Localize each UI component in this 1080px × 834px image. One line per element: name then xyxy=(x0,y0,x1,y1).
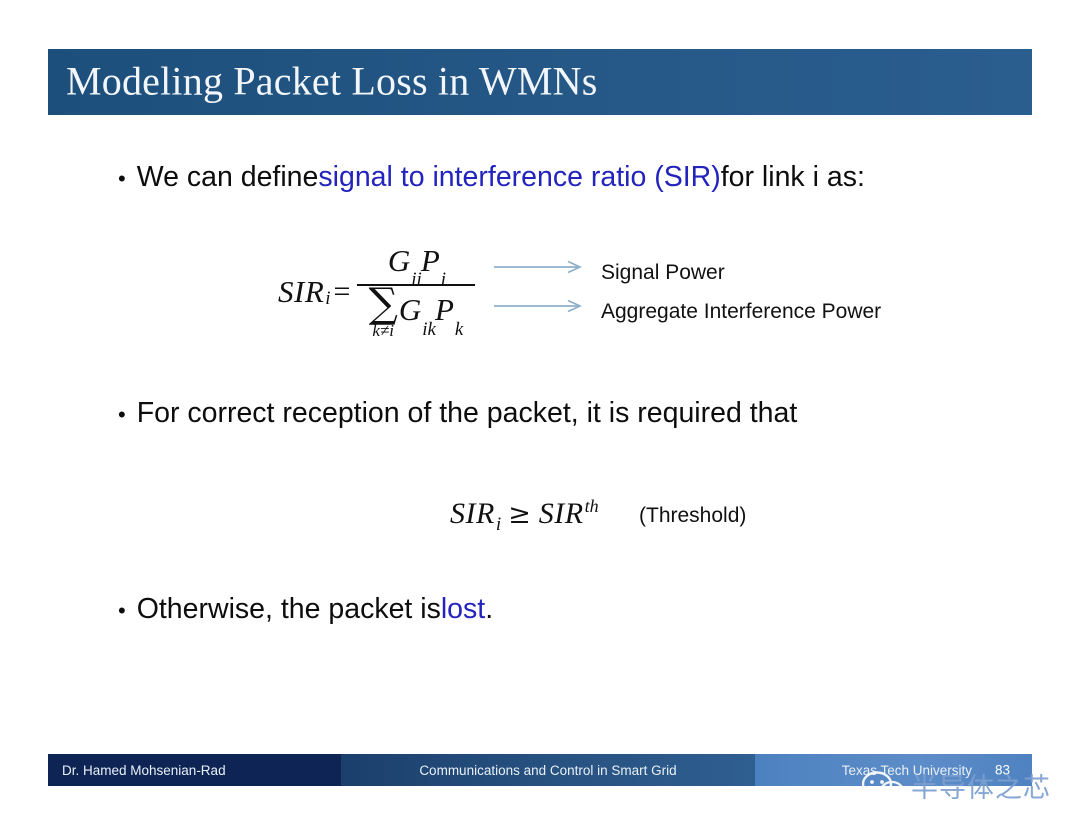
bullet-1-text-part-1: We can define xyxy=(137,161,319,194)
page-title: Modeling Packet Loss in WMNs xyxy=(66,58,598,105)
summation-lower-limit: k≠i xyxy=(372,322,394,339)
footer-author: Dr. Hamed Mohsenian-Rad xyxy=(48,754,341,786)
denominator-terms: GikPk xyxy=(399,294,462,331)
denominator-g-subscript: ik xyxy=(422,319,436,340)
formula-sir-threshold: SIRi ≥ SIRth xyxy=(450,497,598,531)
sigma-icon: ∑ xyxy=(369,287,398,321)
numerator-g-base: G xyxy=(388,243,410,278)
bullet-3-text-part-1: Otherwise, the packet is xyxy=(137,593,441,626)
footer-university-name: Texas Tech University xyxy=(842,763,972,778)
bullet-3-link-lost: lost xyxy=(441,593,485,626)
bullet-marker-icon: • xyxy=(118,168,126,190)
numerator-g-subscript: ii xyxy=(411,269,422,290)
footer-page-number: 83 xyxy=(995,763,1010,778)
slide-footer: Dr. Hamed Mohsenian-Rad Communications a… xyxy=(48,754,1032,786)
callout-label-signal-power: Signal Power xyxy=(601,261,725,285)
footer-university-block: Texas Tech University 83 xyxy=(755,754,1032,786)
threshold-rhs-base: SIR xyxy=(539,497,584,531)
bullet-item-3: • Otherwise, the packet is lost . xyxy=(118,593,493,626)
formula-lhs-base: SIR xyxy=(278,274,324,310)
numerator-p-base: P xyxy=(421,243,440,278)
threshold-annotation: (Threshold) xyxy=(639,504,746,528)
threshold-rhs-superscript: th xyxy=(585,496,599,517)
bullet-3-text-part-2: . xyxy=(485,593,493,626)
bullet-1-text-part-2: for link i as: xyxy=(721,161,865,194)
formula-denominator: ∑ k≠i GikPk xyxy=(365,286,469,339)
callout-label-interference-power: Aggregate Interference Power xyxy=(601,300,881,324)
right-arrow-icon-signal-power xyxy=(494,260,586,274)
formula-equals-sign: = xyxy=(334,275,351,309)
bullet-item-1: • We can define signal to interference r… xyxy=(118,161,865,194)
slide-canvas: Modeling Packet Loss in WMNs • We can de… xyxy=(0,0,1080,834)
right-arrow-icon-interference-power xyxy=(494,299,586,313)
denominator-p-base: P xyxy=(435,292,454,327)
bullet-2-text: For correct reception of the packet, it … xyxy=(137,397,798,430)
threshold-lhs-subscript: i xyxy=(496,514,501,536)
numerator-p-subscript: i xyxy=(441,269,446,290)
bullet-marker-icon: • xyxy=(118,404,126,426)
denominator-p-subscript: k xyxy=(455,319,463,340)
summation-operator: ∑ k≠i xyxy=(369,287,398,339)
bullet-item-2: • For correct reception of the packet, i… xyxy=(118,397,797,430)
footer-course-title: Communications and Control in Smart Grid xyxy=(341,754,755,786)
bullet-1-link-sir: signal to interference ratio (SIR) xyxy=(318,161,720,194)
threshold-lhs-base: SIR xyxy=(450,497,495,531)
formula-fraction: GiiPi ∑ k≠i GikPk xyxy=(357,245,475,339)
denominator-g-base: G xyxy=(399,292,421,327)
formula-sir-definition: SIRi = GiiPi ∑ k≠i GikPk xyxy=(278,245,475,339)
bullet-marker-icon: • xyxy=(118,600,126,622)
slide-title-bar: Modeling Packet Loss in WMNs xyxy=(48,49,1032,115)
formula-lhs-subscript: i xyxy=(325,288,330,310)
greater-equal-sign: ≥ xyxy=(508,499,531,530)
